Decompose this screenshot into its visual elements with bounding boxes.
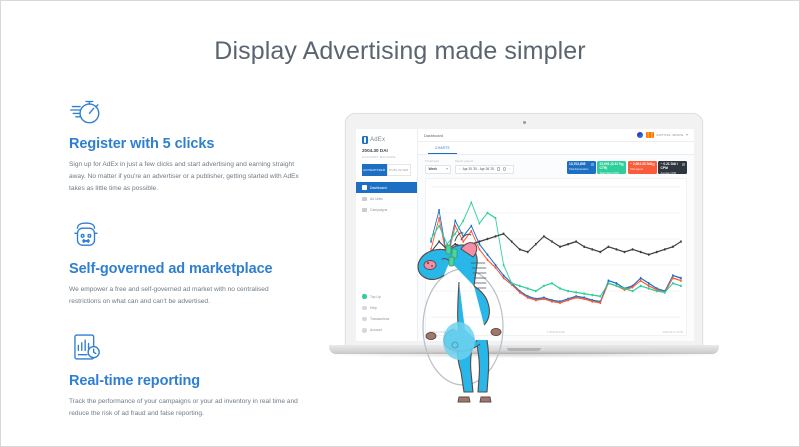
chevron-down-icon (446, 168, 448, 170)
card-badge-icon (591, 163, 594, 166)
help-icon (362, 306, 367, 311)
stat-label: Total impressions (569, 168, 593, 171)
role-advertiser[interactable]: ADVERTISER (362, 164, 387, 176)
sidebar-item-campaigns[interactable]: Campaigns (356, 204, 417, 215)
feature-item: Register with 5 clicks Sign up for AdEx … (69, 93, 301, 196)
filters-row: Timeframe Week Select period ‹ Apr 20 '2… (418, 155, 694, 177)
tab-charts[interactable]: CHARTS (428, 142, 457, 154)
period-label: Select period (455, 160, 514, 163)
card-badge-icon (652, 163, 655, 166)
role-toggle[interactable]: ADVERTISER PUBLISHER (362, 164, 411, 176)
sidebar-item-label: Transactions (370, 317, 389, 321)
stopwatch-icon (69, 93, 103, 127)
stat-value: 13,702,805 (569, 163, 593, 167)
webcam-icon (523, 121, 526, 124)
feature-body: Sign up for AdEx in just a few clicks an… (69, 159, 301, 196)
topbar-title: Dashboard (424, 133, 443, 138)
feature-list: Register with 5 clicks Sign up for AdEx … (69, 93, 301, 442)
campaigns-icon (362, 208, 367, 213)
sidebar-item-label: Campaigns (370, 208, 387, 212)
feature-title: Self-governed ad marketplace (69, 261, 301, 277)
role-publisher[interactable]: PUBLISHER (387, 164, 412, 176)
user-address: 0x877132...8b9C41 (656, 133, 683, 137)
chevron-down-icon (686, 134, 688, 136)
top-up-icon (362, 294, 367, 299)
stat-label: Total spend (630, 168, 654, 171)
stat-card-spend[interactable]: ~ 2,004.30 DAI Total spend (628, 161, 657, 174)
clock-icon[interactable] (503, 167, 506, 170)
identicon-icon (646, 132, 654, 138)
sidebar-item-label: Ad Units (370, 197, 383, 201)
feature-item: Self-governed ad marketplace We empower … (69, 218, 301, 308)
balance-label: ACCOUNT BALANCE (362, 155, 411, 159)
mascot-horse-jumping-rope (397, 219, 537, 409)
timeframe-label: Timeframe (425, 160, 451, 163)
period-value: Apr 20 '20 - Apr 26 '20 (463, 167, 495, 171)
face-icon (69, 218, 103, 252)
sidebar-nav-main: Dashboard Ad Units Campaigns (356, 182, 417, 216)
feature-item: Real-time reporting Track the performanc… (69, 330, 301, 420)
feature-body: Track the performance of your campaigns … (69, 396, 301, 420)
stat-value: 22,091 (0.21 %, CTR) (600, 163, 624, 171)
card-badge-icon (621, 163, 624, 166)
stat-cards: 13,702,805 Total impressions 22,091 (0.2… (567, 161, 688, 174)
stat-value: ~ 0.21 DAI / CPM (661, 163, 685, 171)
balance-amount: 2004.30 DAI (362, 148, 411, 153)
user-menu[interactable]: 0x877132...8b9C41 (637, 132, 688, 138)
stat-label: Average CPM (661, 172, 685, 174)
sidebar-item-ad-units[interactable]: Ad Units (356, 193, 417, 204)
timeframe-select[interactable]: Week (425, 165, 451, 174)
stat-card-cpm[interactable]: ~ 0.21 DAI / CPM Average CPM (658, 161, 687, 174)
transactions-icon (362, 317, 367, 322)
avatar (637, 132, 643, 138)
report-clock-icon (69, 330, 103, 364)
sidebar-item-label: Help (370, 306, 377, 310)
sidebar-item-dashboard[interactable]: Dashboard (356, 182, 417, 193)
account-icon (362, 328, 367, 333)
stat-label: Total clicks (CTR) (600, 172, 624, 174)
adex-logo-icon (362, 136, 368, 144)
date-range-picker[interactable]: ‹ Apr 20 '20 - Apr 26 '20 › (455, 165, 514, 174)
prev-period-button[interactable]: ‹ (459, 167, 460, 171)
next-period-button[interactable]: › (508, 167, 509, 171)
sidebar-item-label: Top Up (370, 295, 381, 299)
ad-units-icon (362, 197, 367, 202)
feature-title: Register with 5 clicks (69, 136, 301, 152)
sidebar-item-label: Dashboard (370, 186, 387, 190)
timeframe-field: Timeframe Week (425, 160, 451, 173)
stat-card-clicks[interactable]: 22,091 (0.21 %, CTR) Total clicks (CTR) (597, 161, 626, 174)
sidebar-item-label: Account (370, 328, 382, 332)
app-topbar: Dashboard 0x877132...8b9C41 (418, 129, 694, 142)
page-title: Display Advertising made simpler (1, 37, 799, 66)
brand-name: AdEx (370, 137, 385, 143)
timeframe-value: Week (429, 167, 438, 171)
tab-bar: CHARTS (418, 142, 694, 155)
account-balance: 2004.30 DAI ACCOUNT BALANCE (356, 144, 417, 159)
card-badge-icon (682, 163, 685, 166)
feature-body: We empower a free and self-governed ad m… (69, 284, 301, 308)
dashboard-icon (362, 185, 367, 190)
period-field: Select period ‹ Apr 20 '20 - Apr 26 '20 … (455, 160, 514, 173)
calendar-icon[interactable] (497, 167, 500, 170)
stat-value: ~ 2,004.30 DAI (630, 163, 654, 167)
stat-card-impressions[interactable]: 13,702,805 Total impressions (567, 161, 596, 174)
brand-logo[interactable]: AdEx (356, 134, 417, 144)
feature-title: Real-time reporting (69, 373, 301, 389)
